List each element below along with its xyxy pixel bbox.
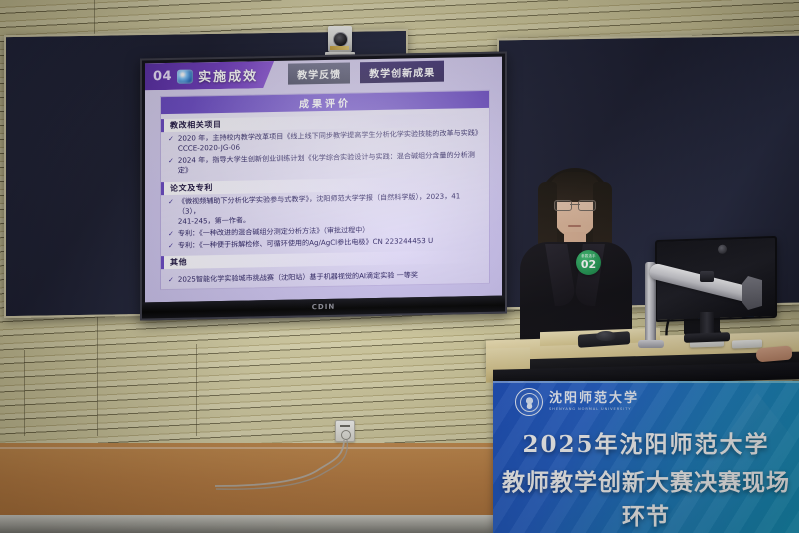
list-item: ✓ 2024 年，指导大学生创新创业训练计划《化学综合实验设计与实践：混合碱组分…: [168, 150, 482, 177]
check-icon: ✓: [168, 134, 174, 144]
banner-line-2: 教师教学创新大赛决赛现场环节: [493, 463, 799, 531]
bullet-group-projects: ✓ 2020 年，主持校内教学改革项目《线上线下同步教学提高学生分析化学实验技能…: [161, 128, 489, 177]
list-item-text: 2025智能化学实验城市挑战赛（沈阳站）基于机器视觉的AI滴定实验 一等奖: [178, 269, 482, 285]
card-title: 成果评价: [161, 91, 489, 114]
bullet-group-other: ✓ 2025智能化学实验城市挑战赛（沈阳站）基于机器视觉的AI滴定实验 一等奖: [161, 269, 489, 286]
tab-teaching-innovation-results[interactable]: 教学创新成果: [360, 61, 444, 84]
classroom-scene: 04 实施成效 教学反馈 教学创新成果 成果评价 教改相关项目 ✓: [0, 0, 799, 533]
tab-teaching-feedback[interactable]: 教学反馈: [288, 62, 350, 84]
list-item-text: 2024 年，指导大学生创新创业训练计划《化学综合实验设计与实践：混合碱组分含量…: [178, 150, 482, 176]
power-outlet[interactable]: [335, 420, 355, 442]
webcam-icon: [718, 245, 727, 254]
check-icon: ✓: [168, 196, 174, 206]
globe-icon: [177, 69, 193, 83]
university-name-en: SHENYANG NORMAL UNIVERSITY: [549, 408, 639, 412]
slide-section-number: 04: [153, 69, 172, 84]
wall-seam: [97, 316, 98, 436]
banner-text-block: 2025年沈阳师范大学 教师教学创新大赛决赛现场环节 正 高 组: [493, 425, 799, 533]
contestant-badge: 参赛选手 02: [576, 250, 601, 275]
check-icon: ✓: [168, 229, 174, 239]
event-banner: 沈阳师范大学 SHENYANG NORMAL UNIVERSITY 2025年沈…: [493, 381, 799, 533]
slide-content-card: 成果评价 教改相关项目 ✓ 2020 年，主持校内教学改革项目《线上线下同步教学…: [160, 90, 490, 290]
monitor-arm-knob[interactable]: [700, 271, 714, 282]
projection-screen[interactable]: 04 实施成效 教学反馈 教学创新成果 成果评价 教改相关项目 ✓: [140, 51, 507, 320]
badge-number: 02: [581, 259, 596, 270]
desk-device: [732, 339, 762, 348]
slide-tabs: 教学反馈 教学创新成果: [288, 61, 444, 85]
mouse-device[interactable]: [596, 331, 616, 341]
slide-header: 04 实施成效 教学反馈 教学创新成果: [145, 57, 502, 91]
check-icon: ✓: [168, 156, 174, 166]
banner-line-1: 2025年沈阳师范大学: [493, 425, 799, 459]
list-item: ✓ 《微视频辅助下分析化学实验参与式教学》，沈阳师范大学学报（自然科学版），20…: [168, 191, 482, 228]
slide-section-title: 实施成效: [198, 65, 258, 85]
slide-surface: 04 实施成效 教学反馈 教学创新成果 成果评价 教改相关项目 ✓: [145, 57, 502, 303]
display-brand-logo: CDIN: [312, 303, 335, 311]
section-heading-other: 其他: [161, 250, 489, 269]
camera-lens-icon: [333, 32, 348, 47]
slide-section-chip: 04 实施成效: [145, 61, 274, 90]
monitor-arm-mount-plate: [742, 276, 762, 310]
university-logo: 沈阳师范大学 SHENYANG NORMAL UNIVERSITY: [515, 388, 639, 416]
list-item: ✓ 2025智能化学实验城市挑战赛（沈阳站）基于机器视觉的AI滴定实验 一等奖: [168, 269, 482, 285]
glasses-icon: [554, 200, 596, 210]
university-name-cn: 沈阳师范大学: [549, 392, 639, 405]
monitor-stand-base: [684, 332, 730, 343]
check-icon: ✓: [168, 275, 174, 285]
wall-seam: [24, 350, 25, 436]
check-icon: ✓: [168, 241, 174, 251]
badge-label: 参赛选手: [581, 255, 596, 258]
bullet-group-papers: ✓ 《微视频辅助下分析化学实验参与式教学》，沈阳师范大学学报（自然科学版），20…: [161, 190, 489, 251]
monitor-arm-foot: [638, 340, 664, 348]
university-emblem-icon: [515, 388, 543, 416]
wall-seam: [196, 344, 197, 436]
